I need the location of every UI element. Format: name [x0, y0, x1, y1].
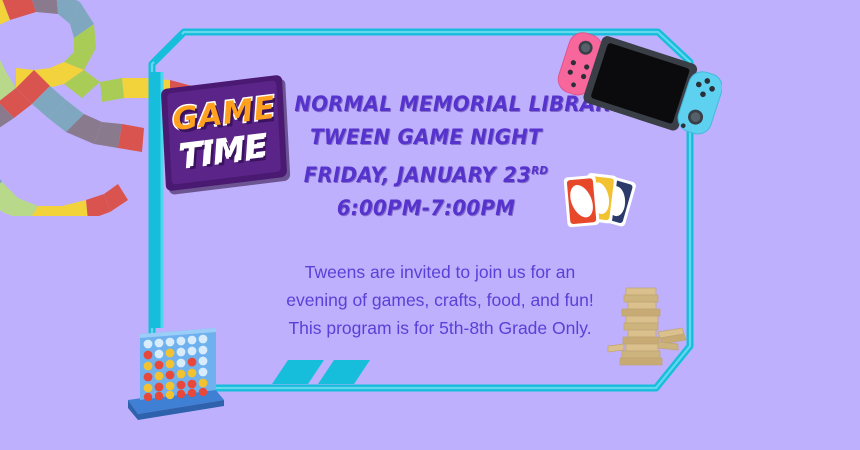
event-date-text: FRIDAY, JANUARY 23 [304, 163, 531, 187]
description-line-3: This program is for 5th-8th Grade Only. [245, 314, 635, 342]
heading-library-name: NORMAL MEMORIAL LIBRARY [294, 88, 557, 121]
poster-canvas: GAME TIME NORMAL MEMORIAL LIBRARY TWEEN … [0, 0, 860, 450]
cyan-parallelogram-accent [272, 360, 370, 384]
nintendo-switch-illustration [556, 22, 722, 146]
heading-event-name: TWEEN GAME NIGHT [294, 121, 557, 154]
heading-event-time: 6:00PM-7:00PM [294, 192, 557, 225]
event-date-suffix: RD [531, 164, 548, 177]
uno-cards-illustration [556, 162, 648, 242]
game-time-logo: GAME TIME [163, 82, 285, 184]
event-description: Tweens are invited to join us for an eve… [245, 258, 635, 342]
jenga-tower-illustration [604, 282, 696, 368]
connect-four-illustration [124, 326, 228, 426]
description-line-2: evening of games, crafts, food, and fun! [245, 286, 635, 314]
heading-event-date: FRIDAY, JANUARY 23RD [294, 154, 557, 192]
heading-block: NORMAL MEMORIAL LIBRARY TWEEN GAME NIGHT… [286, 88, 566, 225]
description-line-1: Tweens are invited to join us for an [245, 258, 635, 286]
